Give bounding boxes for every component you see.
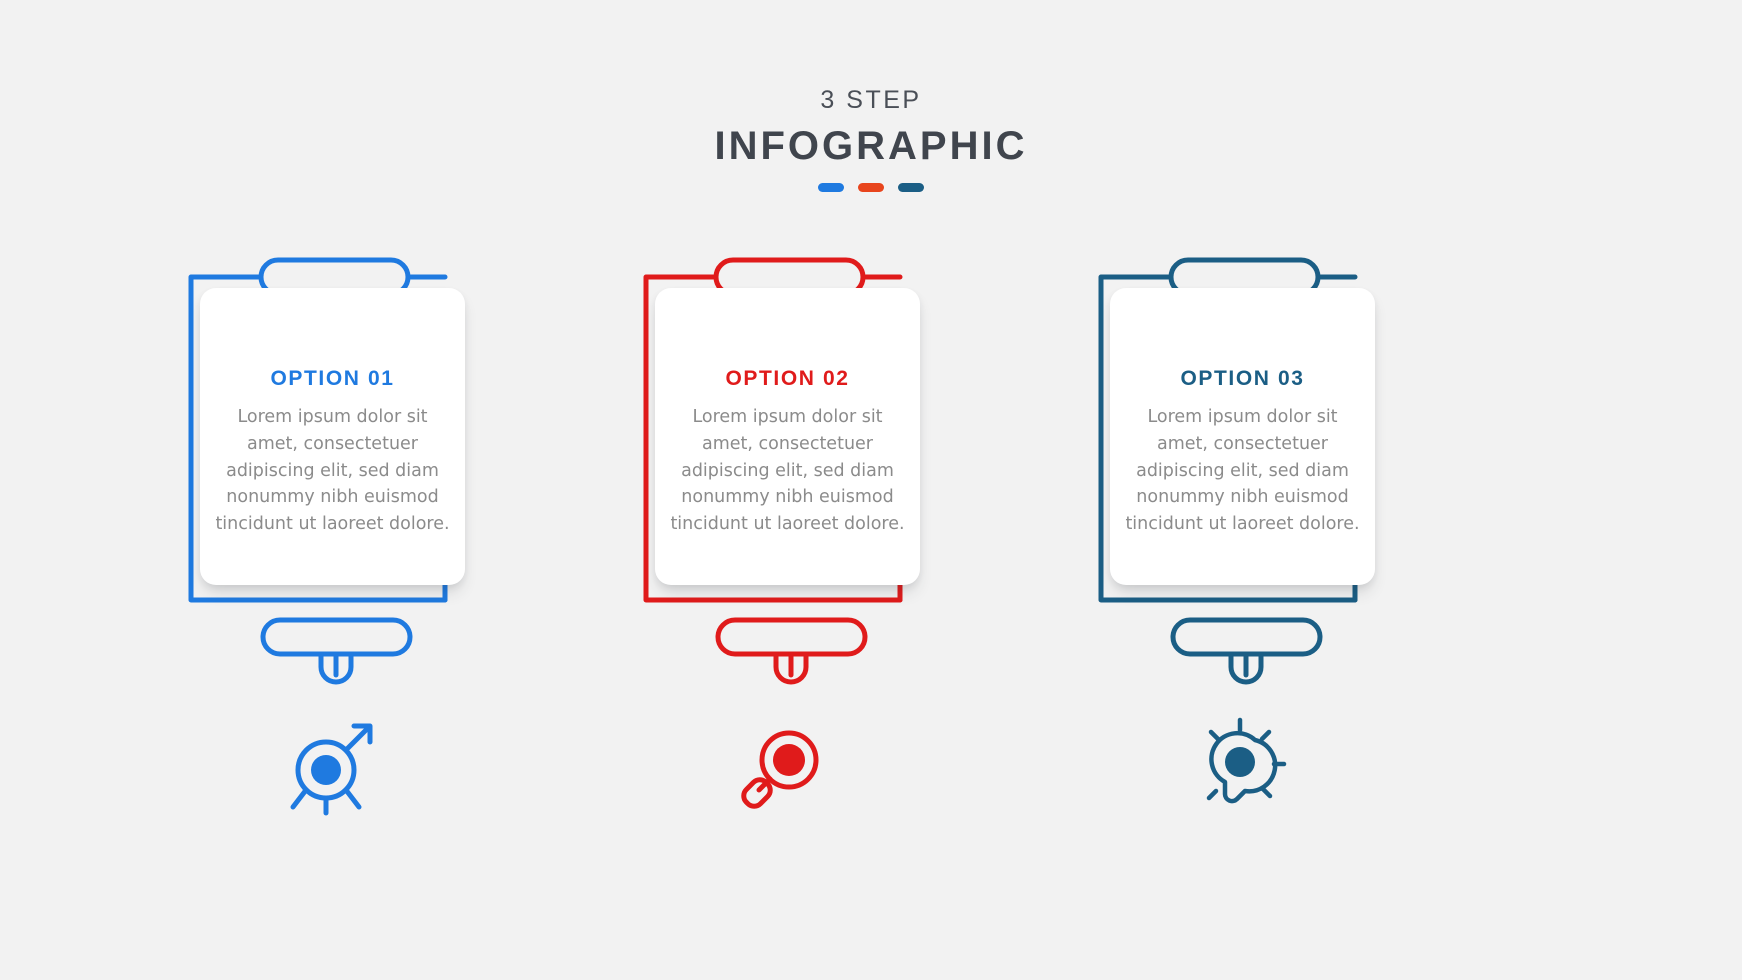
header-subtitle: 3 STEP bbox=[0, 88, 1742, 113]
page-title: INFOGRAPHIC bbox=[0, 126, 1742, 166]
magnifier-icon bbox=[726, 710, 846, 820]
dash-orange-icon bbox=[858, 183, 884, 192]
step-title: OPTION 02 bbox=[725, 368, 849, 389]
step-column-option-03[interactable]: OPTION 03 Lorem ipsum dolor sit amet, co… bbox=[1055, 255, 1475, 935]
step-body: Lorem ipsum dolor sit amet, consectetuer… bbox=[215, 404, 450, 538]
step-body: Lorem ipsum dolor sit amet, consectetuer… bbox=[670, 404, 905, 538]
steps-container: OPTION 01 Lorem ipsum dolor sit amet, co… bbox=[0, 255, 1742, 935]
step-title: OPTION 03 bbox=[1180, 368, 1304, 389]
header-dash-row bbox=[0, 183, 1742, 192]
step-column-option-01[interactable]: OPTION 01 Lorem ipsum dolor sit amet, co… bbox=[145, 255, 565, 935]
step-card-option-01[interactable]: OPTION 01 Lorem ipsum dolor sit amet, co… bbox=[200, 288, 465, 585]
step-title: OPTION 01 bbox=[270, 368, 394, 389]
dash-teal-icon bbox=[898, 183, 924, 192]
header: 3 STEP INFOGRAPHIC bbox=[0, 88, 1742, 192]
step-body: Lorem ipsum dolor sit amet, consectetuer… bbox=[1125, 404, 1360, 538]
step-card-option-03[interactable]: OPTION 03 Lorem ipsum dolor sit amet, co… bbox=[1110, 288, 1375, 585]
step-card-option-02[interactable]: OPTION 02 Lorem ipsum dolor sit amet, co… bbox=[655, 288, 920, 585]
dash-blue-icon bbox=[818, 183, 844, 192]
step-column-option-02[interactable]: OPTION 02 Lorem ipsum dolor sit amet, co… bbox=[600, 255, 1020, 935]
infographic-canvas: 3 STEP INFOGRAPHIC bbox=[0, 0, 1742, 980]
lightbulb-idea-icon bbox=[1181, 710, 1301, 820]
target-arrow-icon bbox=[271, 710, 391, 820]
